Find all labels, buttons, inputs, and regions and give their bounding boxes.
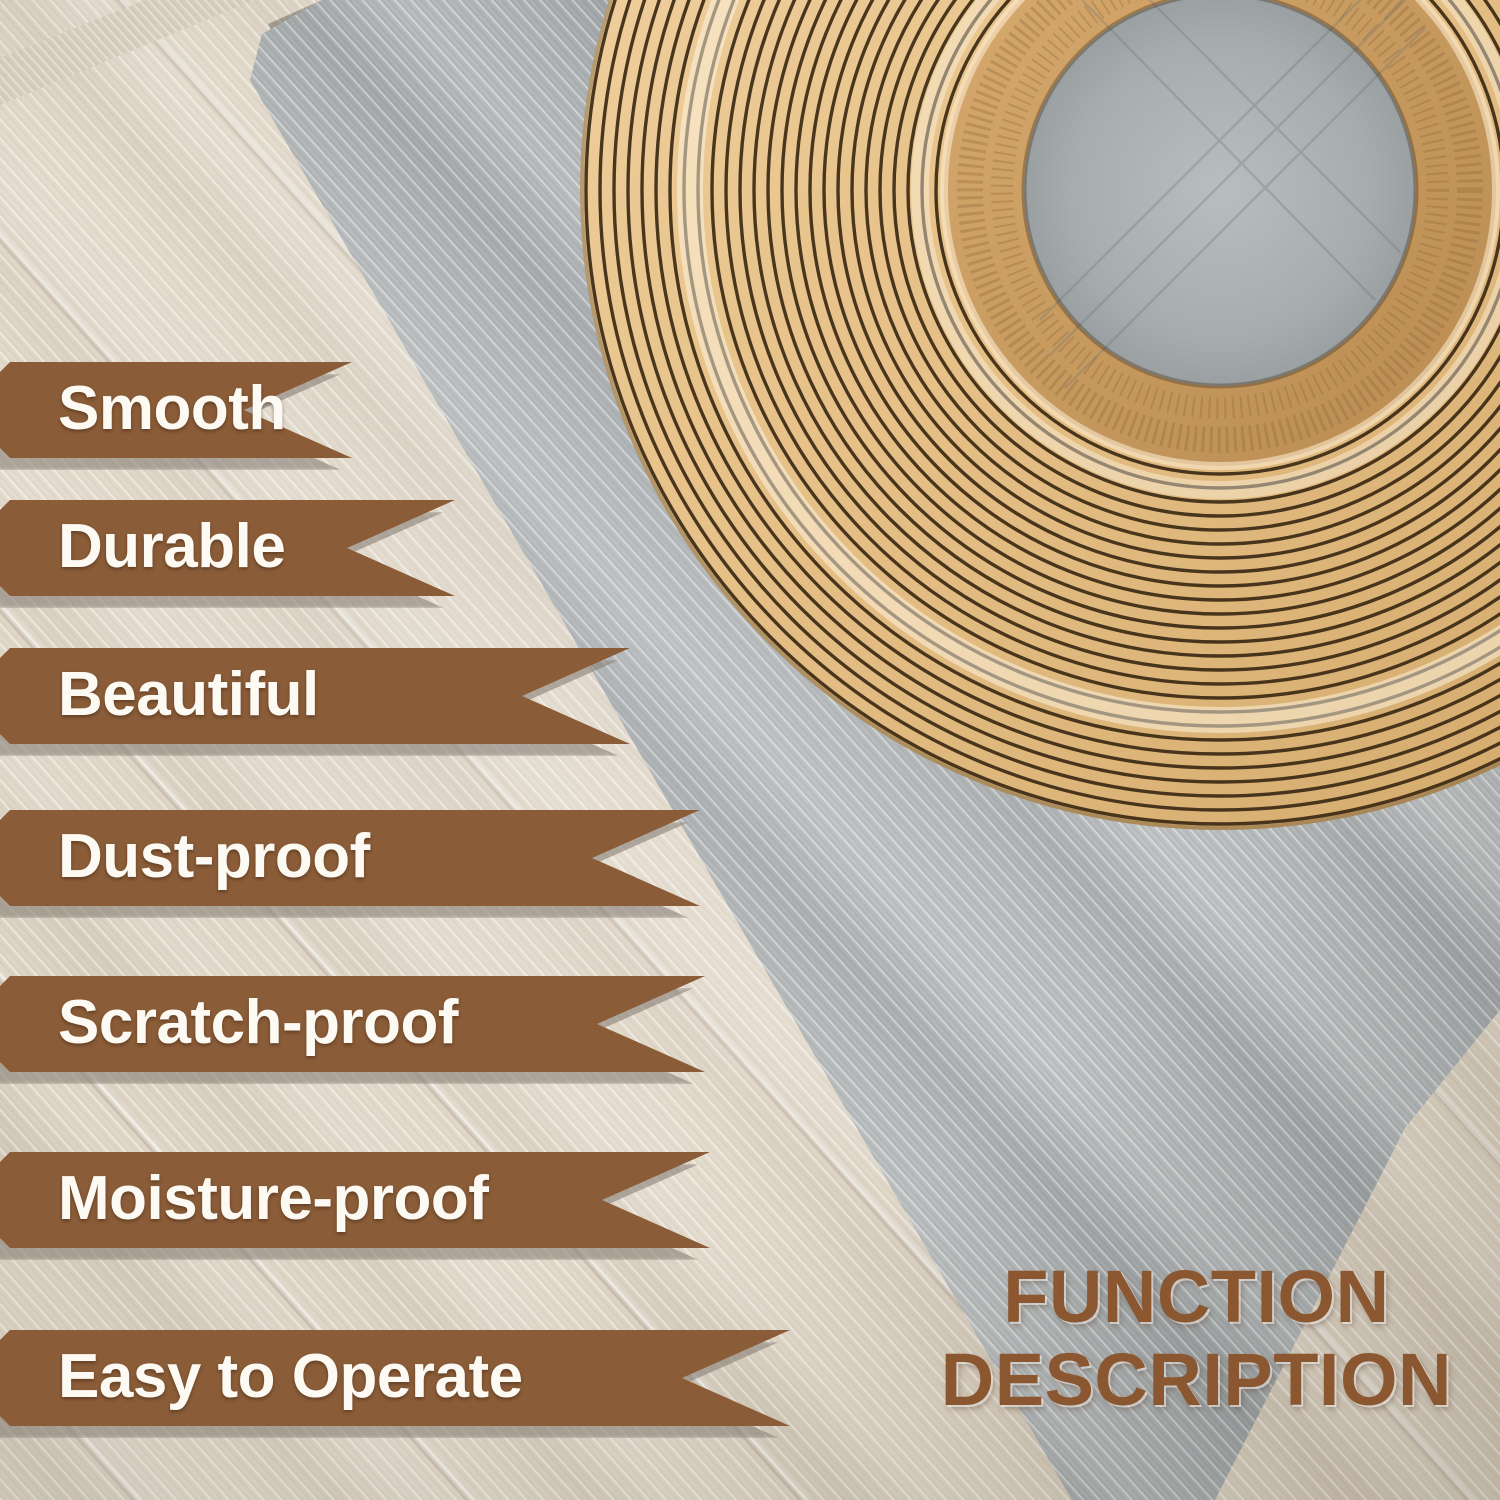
feature-banner-label: Dust-proof bbox=[58, 826, 370, 888]
feature-banner-list: SmoothDurableBeautifulDust-proofScratch-… bbox=[0, 0, 900, 1500]
feature-banner-label: Scratch-proof bbox=[58, 992, 458, 1054]
feature-banner: Dust-proof bbox=[0, 810, 700, 906]
function-description-heading: FUNCTION DESCRIPTION bbox=[941, 1256, 1452, 1422]
product-infographic: SmoothDurableBeautifulDust-proofScratch-… bbox=[0, 0, 1500, 1500]
feature-banner: Durable bbox=[0, 500, 455, 596]
feature-banner: Moisture-proof bbox=[0, 1152, 710, 1248]
heading-line-2: DESCRIPTION bbox=[941, 1339, 1452, 1422]
feature-banner-label: Durable bbox=[58, 516, 285, 578]
feature-banner-label: Smooth bbox=[58, 378, 286, 440]
feature-banner: Beautiful bbox=[0, 648, 630, 744]
feature-banner-label: Moisture-proof bbox=[58, 1168, 488, 1230]
feature-banner: Easy to Operate bbox=[0, 1330, 790, 1426]
feature-banner: Smooth bbox=[0, 362, 352, 458]
feature-banner: Scratch-proof bbox=[0, 976, 705, 1072]
feature-banner-label: Beautiful bbox=[58, 664, 319, 726]
heading-line-1: FUNCTION bbox=[1003, 1255, 1389, 1338]
feature-banner-label: Easy to Operate bbox=[58, 1346, 523, 1408]
